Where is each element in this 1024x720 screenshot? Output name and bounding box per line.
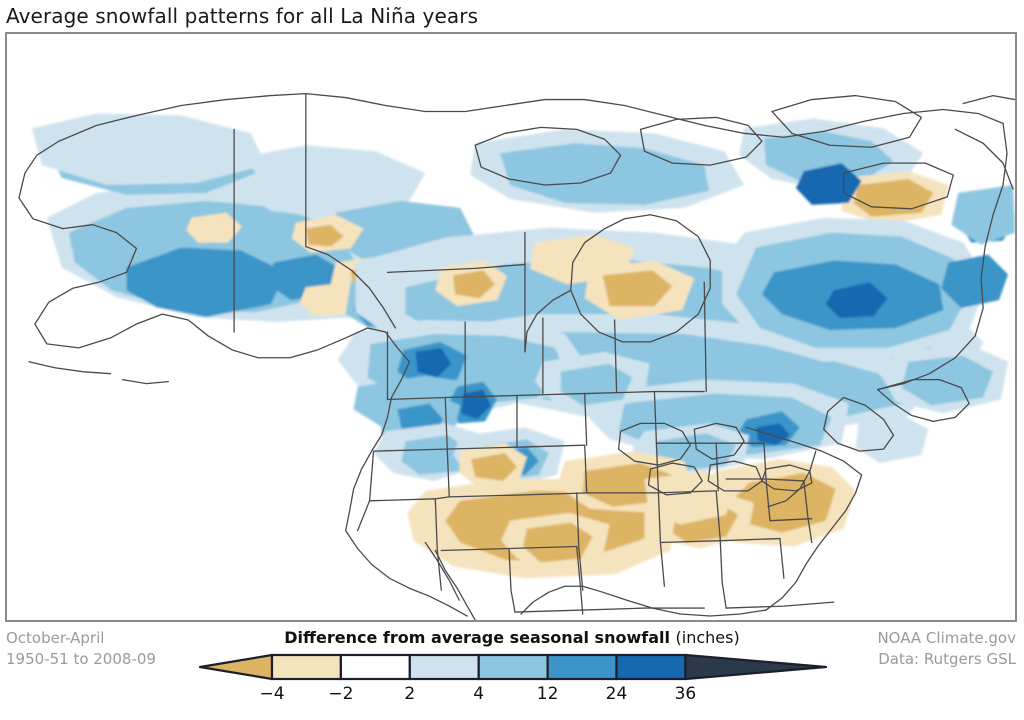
colorbar-band--4--2 (272, 655, 341, 679)
tick-label: 12 (537, 682, 559, 706)
colorbar-band--2-2 (341, 655, 410, 679)
colorbar-over-arrow (685, 655, 826, 679)
colorbar-under-arrow (200, 655, 272, 679)
tick-label: −2 (328, 682, 353, 706)
legend-title-main: Difference from average seasonal snowfal… (284, 628, 670, 647)
colorbar (196, 652, 830, 682)
tick-label: −4 (259, 682, 284, 706)
page-title: Average snowfall patterns for all La Niñ… (6, 2, 1006, 30)
colorbar-svg (196, 652, 830, 682)
colorbar-band-2-4 (410, 655, 479, 679)
caption-period: 1950-51 to 2008-09 (6, 649, 196, 670)
colorbar-tick-labels: −4 −2 2 4 12 24 36 (196, 682, 830, 708)
map-panel (5, 32, 1017, 622)
snowfall-anomaly-map-page: Average snowfall patterns for all La Niñ… (0, 0, 1024, 720)
north-america-anomaly-map (7, 34, 1015, 620)
tick-label: 2 (404, 682, 415, 706)
colorbar-band-24-36 (617, 655, 686, 679)
colorbar-band-12-24 (548, 655, 617, 679)
credits-block: NOAA Climate.gov Data: Rutgers GSL (816, 628, 1016, 670)
legend-title: Difference from average seasonal snowfal… (212, 627, 812, 649)
caption-block: October-April 1950-51 to 2008-09 (6, 628, 196, 670)
legend-title-unit: (inches) (676, 628, 740, 647)
footer: October-April 1950-51 to 2008-09 Differe… (0, 624, 1024, 720)
caption-season: October-April (6, 628, 196, 649)
credit-source: NOAA Climate.gov (816, 628, 1016, 649)
colorbar-band-4-12 (479, 655, 548, 679)
tick-label: 36 (675, 682, 697, 706)
credit-data: Data: Rutgers GSL (816, 649, 1016, 670)
tick-label: 24 (606, 682, 628, 706)
tick-label: 4 (473, 682, 484, 706)
